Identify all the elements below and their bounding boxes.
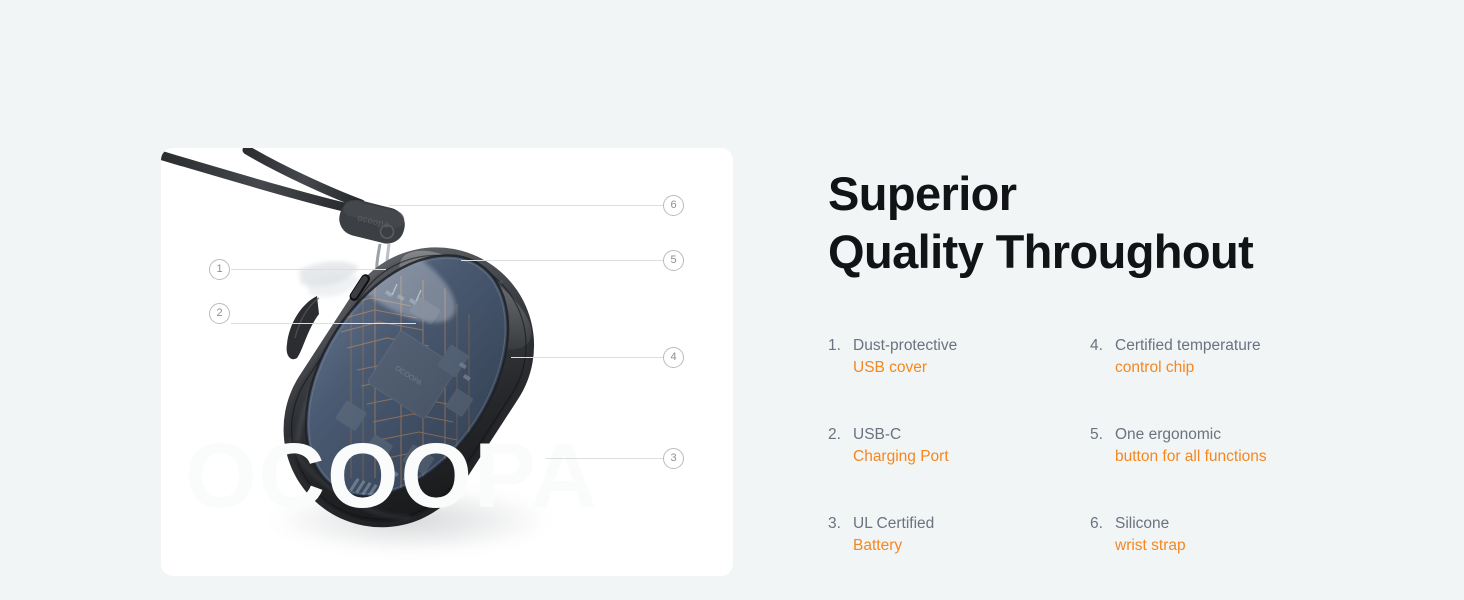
feature-line-1: Certified temperature (1115, 335, 1261, 357)
feature-line-2: button for all functions (1115, 446, 1267, 468)
feature-number: 2. (828, 424, 845, 468)
feature-line-1: One ergonomic (1115, 424, 1267, 446)
leader-line-6 (389, 205, 664, 206)
feature-item-5: 5. One ergonomic button for all function… (1090, 424, 1322, 468)
feature-item-1: 1. Dust-protective USB cover (828, 335, 1060, 379)
feature-number: 1. (828, 335, 845, 379)
headline-block: Superior Quality Throughout (828, 165, 1348, 281)
feature-list: 1. Dust-protective USB cover 4. Certifie… (828, 335, 1348, 557)
headline-line-1: Superior (828, 165, 1348, 223)
feature-text: Dust-protective USB cover (853, 335, 957, 379)
feature-line-1: UL Certified (853, 513, 934, 535)
feature-item-3: 3. UL Certified Battery (828, 513, 1060, 557)
callout-marker-6[interactable]: 6 (663, 195, 684, 216)
feature-number: 4. (1090, 335, 1107, 379)
feature-text: Silicone wrist strap (1115, 513, 1186, 557)
feature-line-1: USB-C (853, 424, 949, 446)
callout-marker-4[interactable]: 4 (663, 347, 684, 368)
callout-marker-5[interactable]: 5 (663, 250, 684, 271)
feature-text: One ergonomic button for all functions (1115, 424, 1267, 468)
feature-line-1: Dust-protective (853, 335, 957, 357)
feature-number: 6. (1090, 513, 1107, 557)
feature-line-2: Battery (853, 535, 934, 557)
feature-text: UL Certified Battery (853, 513, 934, 557)
leader-line-1 (231, 269, 386, 270)
feature-item-4: 4. Certified temperature control chip (1090, 335, 1322, 379)
feature-number: 5. (1090, 424, 1107, 468)
callout-marker-2[interactable]: 2 (209, 303, 230, 324)
feature-item-6: 6. Silicone wrist strap (1090, 513, 1322, 557)
leader-line-5 (461, 260, 664, 261)
feature-item-2: 2. USB-C Charging Port (828, 424, 1060, 468)
product-image-card: ocoopa (161, 148, 733, 576)
feature-line-2: Charging Port (853, 446, 949, 468)
feature-line-2: wrist strap (1115, 535, 1186, 557)
leader-line-2 (231, 323, 416, 324)
feature-line-2: control chip (1115, 357, 1261, 379)
feature-line-2: USB cover (853, 357, 957, 379)
feature-number: 3. (828, 513, 845, 557)
product-infographic: ocoopa (0, 0, 1464, 600)
leader-line-4 (511, 357, 664, 358)
feature-line-1: Silicone (1115, 513, 1186, 535)
callout-marker-1[interactable]: 1 (209, 259, 230, 280)
callout-marker-3[interactable]: 3 (663, 448, 684, 469)
brand-watermark: OCOOPA (185, 424, 599, 529)
headline-line-2: Quality Throughout (828, 223, 1348, 281)
feature-text: Certified temperature control chip (1115, 335, 1261, 379)
leader-line-3 (546, 458, 664, 459)
feature-text: USB-C Charging Port (853, 424, 949, 468)
